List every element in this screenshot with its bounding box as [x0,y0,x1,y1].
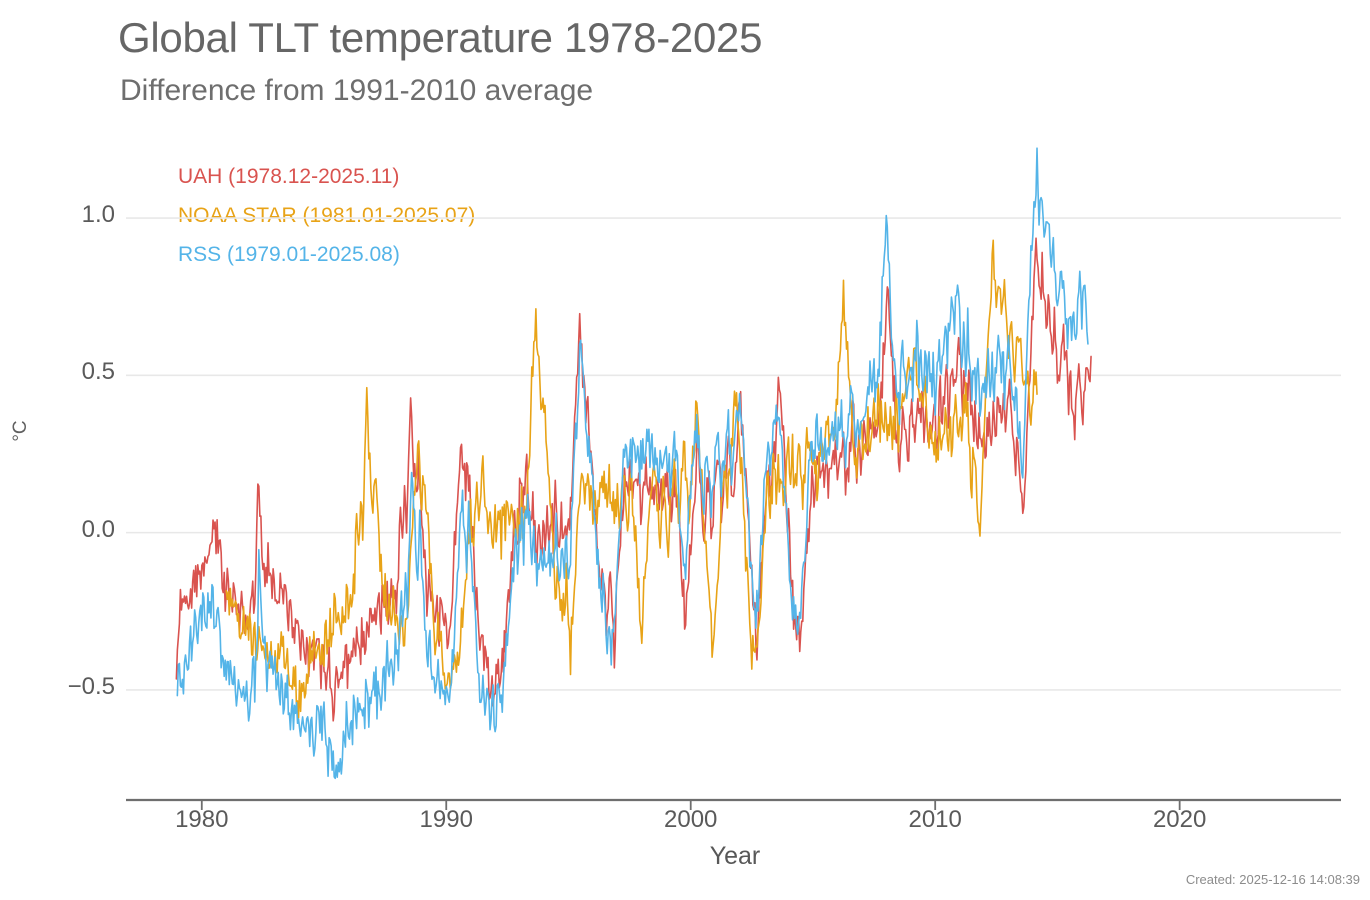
x-tick-label-0: 1980 [132,806,272,834]
y-tick-label-3: −0.5 [0,673,115,701]
y-tick-label-0: 1.0 [0,201,115,229]
y-tick-label-1: 0.5 [0,358,115,386]
y-axis-label: °C [10,401,32,461]
x-tick-label-3: 2010 [865,806,1005,834]
x-tick-label-4: 2020 [1110,806,1250,834]
x-axis-label: Year [0,842,1370,871]
series-line-rss [177,148,1088,778]
series-line-noaa-star [226,240,1037,717]
plot-area [0,0,1370,900]
x-tick-label-1: 1990 [376,806,516,834]
created-timestamp: Created: 2025-12-16 14:08:39 [1186,872,1360,887]
y-tick-label-2: 0.0 [0,516,115,544]
series-lines [176,148,1091,778]
x-tick-label-2: 2000 [621,806,761,834]
chart-figure: Global TLT temperature 1978-2025 Differe… [0,0,1370,900]
